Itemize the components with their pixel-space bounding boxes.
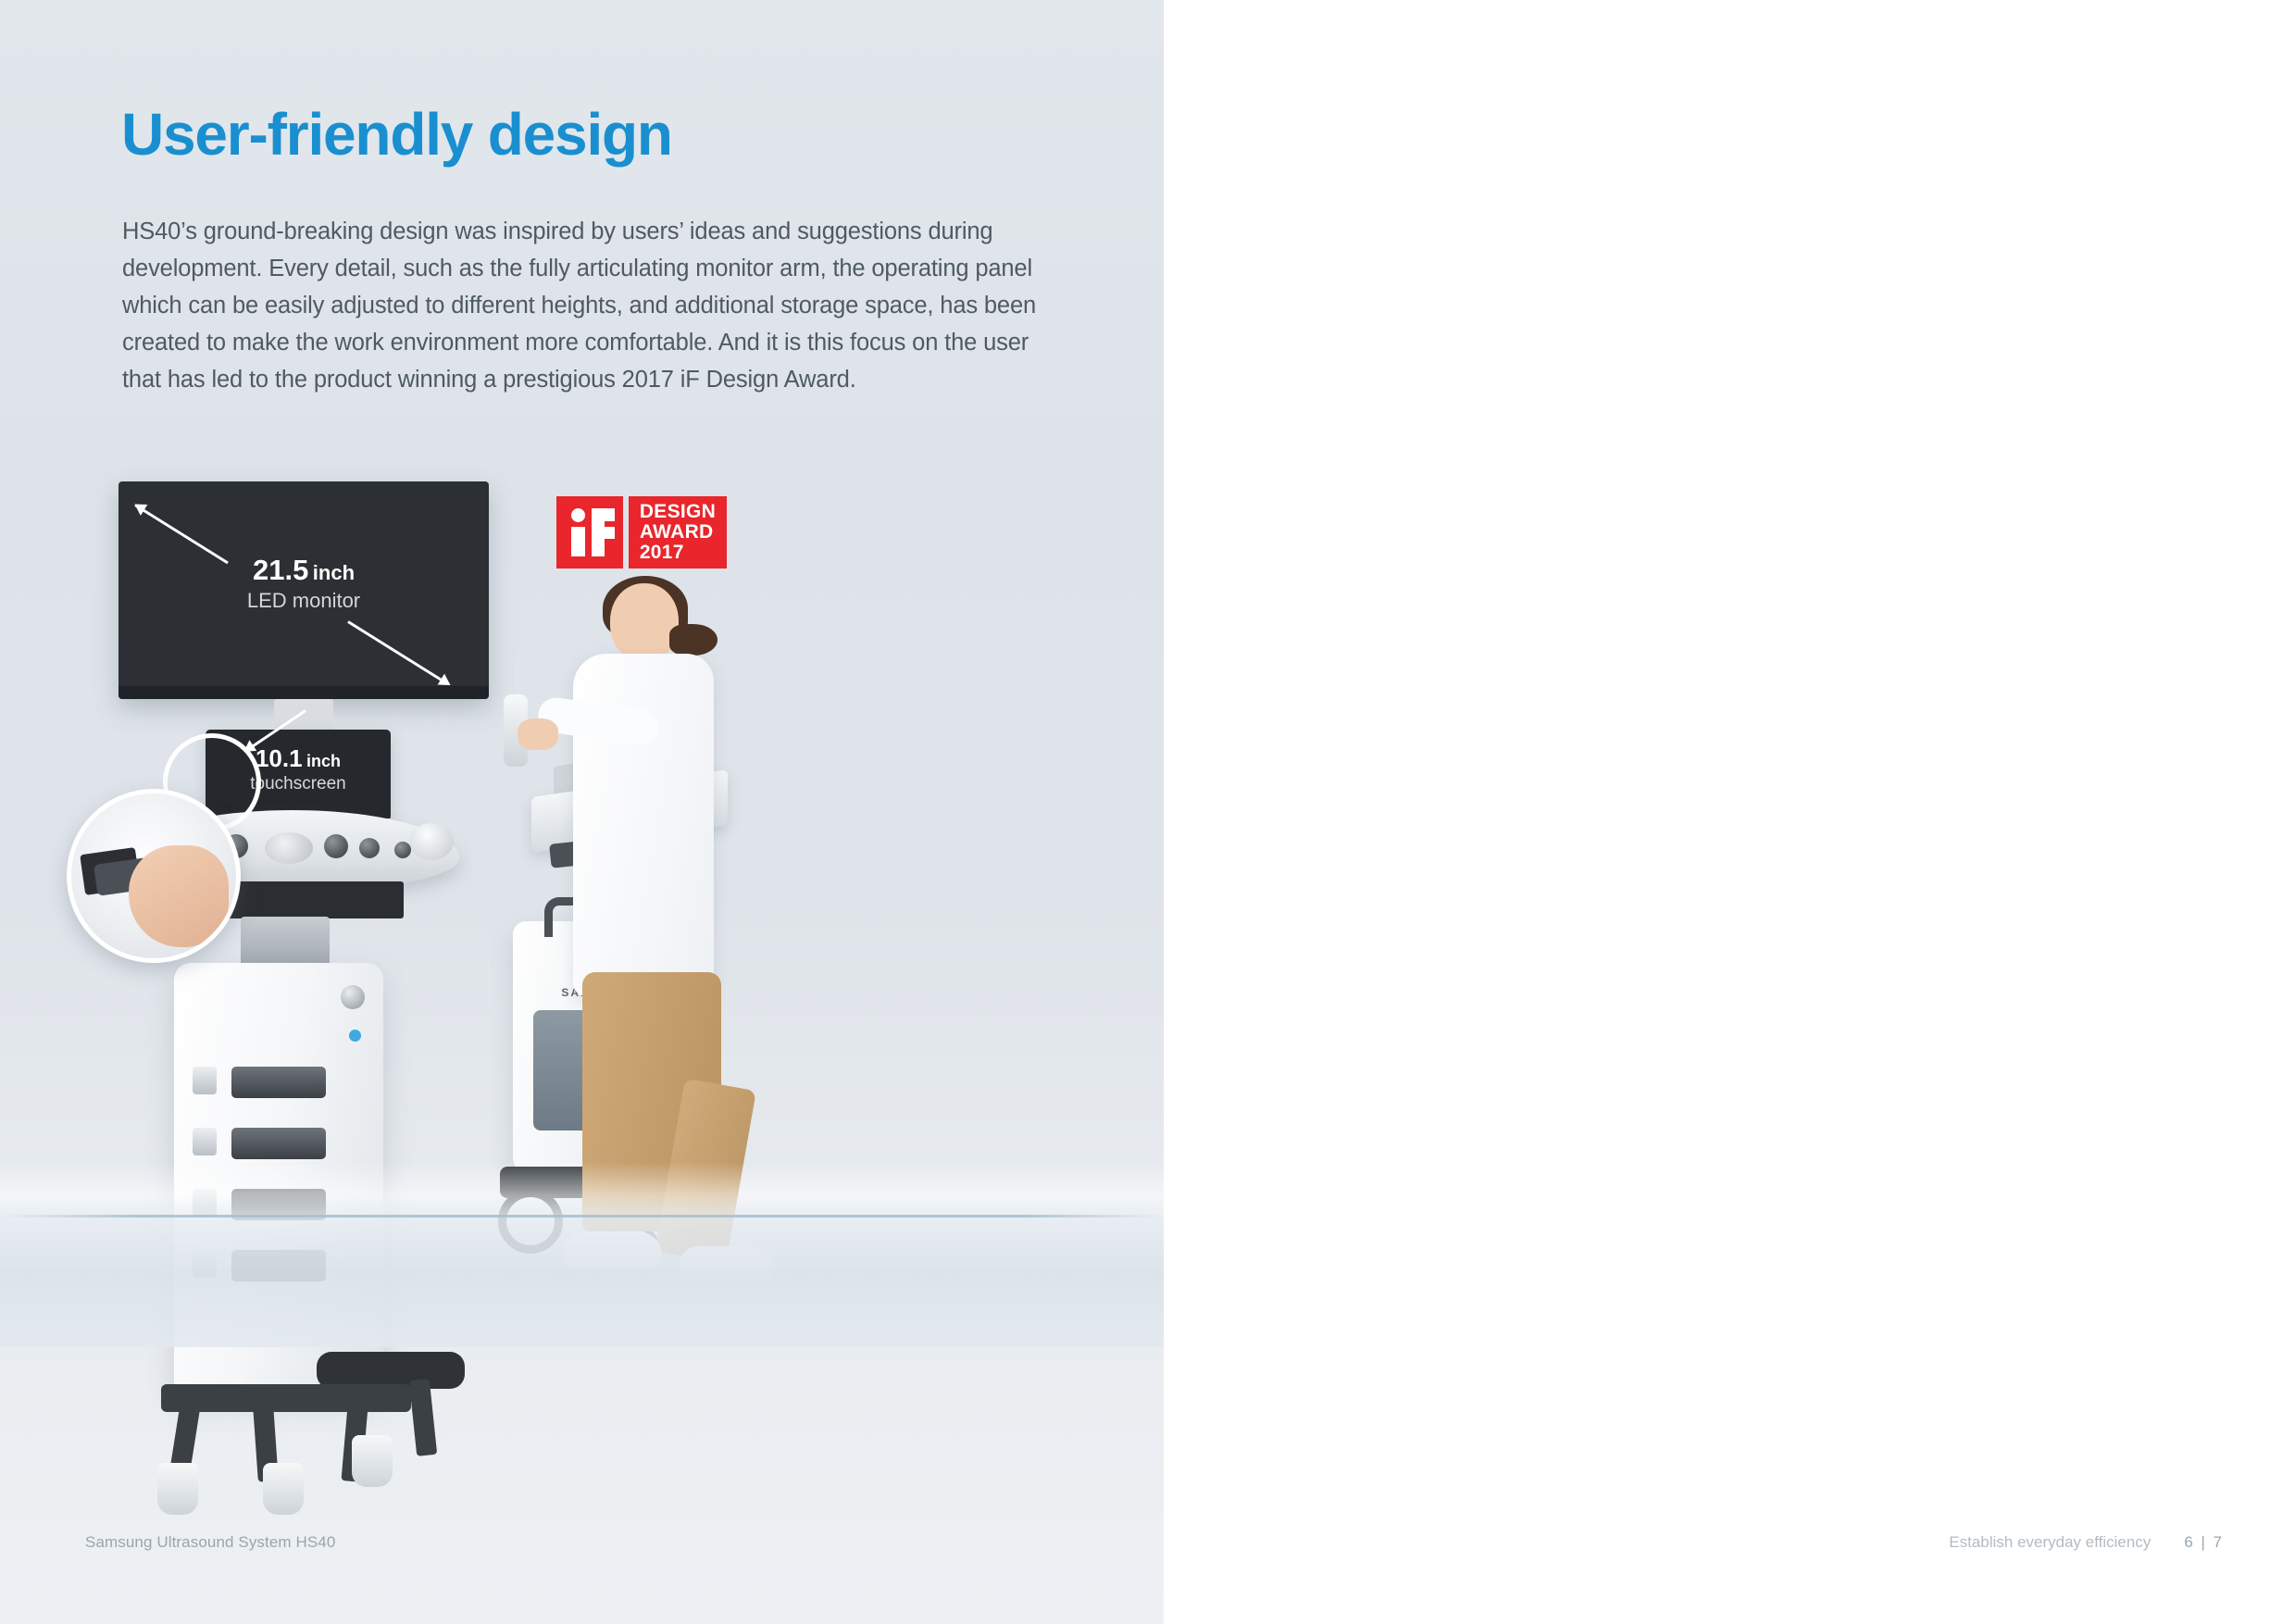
if-letter-i-stem	[571, 527, 585, 556]
control-knob-4	[359, 838, 380, 858]
clinician-shoe-left	[564, 1231, 662, 1268]
monitor-size-callout: 21.5 inch LED monitor	[119, 554, 489, 613]
tower-lock-icon	[341, 985, 365, 1009]
probe-port-tab-4	[193, 1250, 217, 1278]
probe-port-4	[231, 1250, 326, 1281]
magnified-hand	[129, 845, 229, 947]
console-leg-4	[409, 1379, 437, 1456]
award-line-design: DESIGN	[640, 502, 716, 522]
control-knob-5	[394, 842, 411, 858]
if-logo-icon	[556, 496, 623, 568]
left-footer-text: Samsung Ultrasound System HS40	[85, 1533, 335, 1552]
hs40-console-illustration: 21.5 inch LED monitor SAMSUNG 10.1 inch …	[119, 481, 507, 1491]
page-title: User-friendly design	[121, 105, 672, 164]
monitor-diagonal-arrow-lower	[347, 620, 442, 681]
right-page: 1. Articulating monitor arm With a wide …	[1164, 0, 2296, 1624]
control-knob-3	[324, 834, 348, 858]
caster-1	[157, 1463, 198, 1515]
right-footer: Establish everyday efficiency 6 | 7	[1949, 1533, 2224, 1552]
probe-port-tab-2	[193, 1128, 217, 1156]
award-line-year: 2017	[640, 543, 716, 563]
console-tower	[174, 963, 383, 1391]
clinician-figure	[530, 583, 790, 1352]
probe-port-tab-1	[193, 1067, 217, 1094]
rear-tray	[317, 1352, 465, 1389]
probe-port-tab-3	[193, 1189, 217, 1217]
brochure-spread: User-friendly design HS40’s ground-break…	[0, 0, 2296, 1624]
clinician-hand	[518, 718, 558, 750]
trackball	[265, 832, 313, 864]
horizon-line	[0, 1215, 1164, 1218]
clinician-ponytail	[669, 624, 717, 656]
caster-2	[263, 1463, 304, 1515]
if-letter-f-stem	[592, 508, 605, 556]
caster-3	[352, 1435, 393, 1487]
probe-holder-right	[409, 823, 454, 860]
monitor-size-value: 21.5	[253, 554, 308, 586]
clinician-head	[610, 583, 679, 661]
if-design-award-badge: DESIGN AWARD 2017	[556, 496, 727, 568]
left-page: User-friendly design HS40’s ground-break…	[0, 0, 1164, 1624]
led-monitor: 21.5 inch LED monitor SAMSUNG	[119, 481, 489, 699]
probe-handle-magnifier	[67, 789, 241, 963]
touchscreen-size-value: 10.1	[256, 744, 303, 772]
intro-paragraph: HS40’s ground-breaking design was inspir…	[122, 213, 1048, 398]
probe-port-1	[231, 1067, 326, 1098]
power-indicator-icon	[349, 1030, 361, 1042]
award-line-award: AWARD	[640, 522, 716, 543]
monitor-size-unit: inch	[313, 561, 355, 584]
probe-port-2	[231, 1128, 326, 1159]
right-footer-text: Establish everyday efficiency	[1949, 1533, 2151, 1552]
monitor-type-label: LED monitor	[119, 589, 489, 613]
if-letter-f-bar-top	[605, 508, 615, 521]
monitor-brand-label: SAMSUNG	[278, 688, 330, 697]
page-numbers: 6 | 7	[2184, 1533, 2224, 1552]
touchscreen-size-unit: inch	[306, 752, 341, 770]
if-letter-f-bar-mid	[605, 527, 615, 539]
if-award-text-block: DESIGN AWARD 2017	[629, 496, 727, 568]
clinician-shoe-right	[679, 1246, 775, 1281]
if-letter-i-dot	[571, 508, 585, 522]
